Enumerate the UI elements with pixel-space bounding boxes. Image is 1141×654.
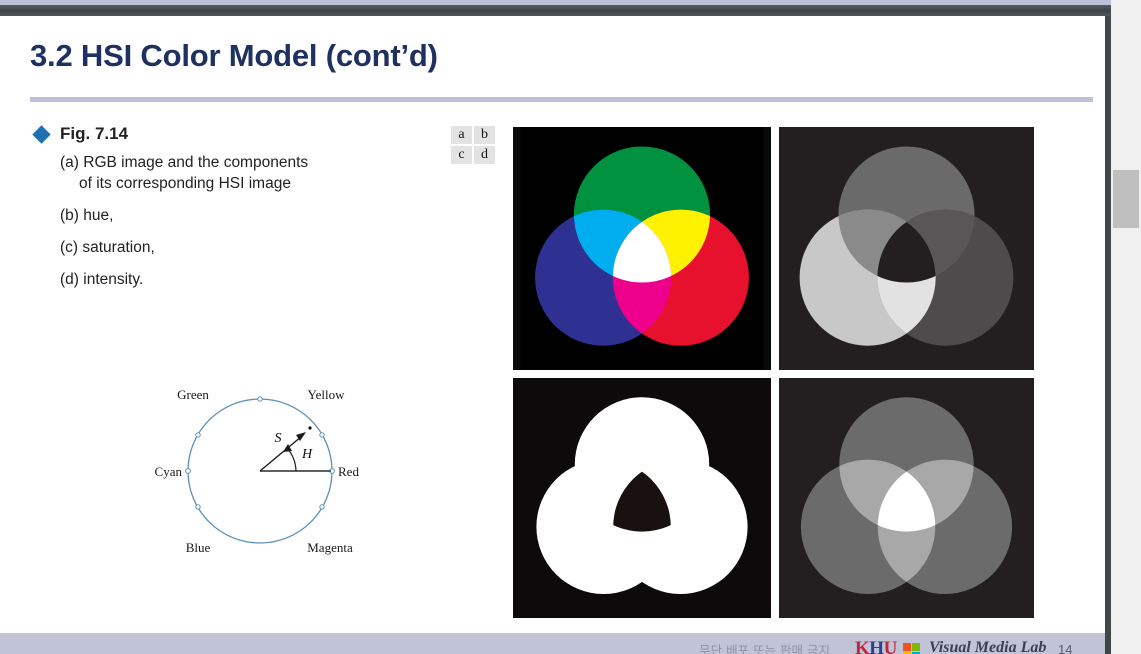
- sub-bullet-a: (a) RGB image and the components: [60, 153, 435, 174]
- panel-key-a: a: [451, 126, 472, 144]
- hsi-color-wheel-figure: S H Green Yellow Cyan Red Blue Magenta: [130, 376, 390, 566]
- slide-canvas: 3.2 HSI Color Model (cont’d) Fig. 7.14 (…: [0, 16, 1105, 654]
- vertex-yellow: [320, 433, 324, 437]
- panel-key-c: c: [451, 146, 472, 164]
- page-number: 14: [1058, 642, 1072, 654]
- vertical-scrollbar[interactable]: [1111, 0, 1141, 654]
- vertex-blue: [196, 505, 200, 509]
- diamond-bullet-icon: [32, 125, 50, 143]
- sub-bullet-b: (b) hue,: [60, 206, 435, 227]
- vertex-green: [196, 433, 200, 437]
- panel-rgb-image: [513, 127, 771, 370]
- vertex-magenta: [320, 505, 324, 509]
- copyright-notice: 무단 배포 또는 판매 금지: [0, 640, 830, 654]
- sub-bullets: (a) RGB image and the components of its …: [60, 153, 435, 291]
- panel-intensity-image: [779, 378, 1034, 618]
- label-yellow: Yellow: [308, 387, 346, 402]
- sub-bullet-c: (c) saturation,: [60, 238, 435, 259]
- bullet-lead: Fig. 7.14: [35, 124, 435, 144]
- bullet-lead-label: Fig. 7.14: [60, 124, 128, 144]
- khu-logo-u: U: [884, 638, 897, 654]
- panel-key-d: d: [474, 146, 495, 164]
- khu-logo-h: H: [869, 638, 883, 654]
- label-cyan: Cyan: [155, 464, 183, 479]
- bullet-list: Fig. 7.14 (a) RGB image and the componen…: [35, 124, 435, 291]
- label-magenta: Magenta: [307, 540, 353, 555]
- saturation-label: S: [275, 431, 282, 446]
- vertex-cyan: [186, 469, 191, 474]
- lab-name: Visual Media Lab: [929, 639, 1046, 654]
- panel-key-b: b: [474, 126, 495, 144]
- khu-logo: KHU: [855, 638, 897, 654]
- khu-logo-k: K: [855, 638, 869, 654]
- panel-saturation-image: [513, 378, 771, 618]
- panel-key-grid: a b c d: [451, 126, 495, 164]
- lab-square-logo-icon: [903, 643, 920, 654]
- sub-bullet-d: (d) intensity.: [60, 270, 435, 291]
- panel-hue-image: [779, 127, 1034, 370]
- vertical-scrollbar-thumb[interactable]: [1113, 170, 1139, 228]
- sub-bullet-a-cont: of its corresponding HSI image: [60, 174, 435, 195]
- slide-viewer: 3.2 HSI Color Model (cont’d) Fig. 7.14 (…: [0, 0, 1141, 654]
- top-toolbar: [0, 5, 1122, 16]
- sample-point: [308, 426, 311, 429]
- label-green: Green: [177, 387, 209, 402]
- hue-label: H: [301, 447, 313, 462]
- page-title: 3.2 HSI Color Model (cont’d): [30, 38, 438, 74]
- label-blue: Blue: [186, 540, 211, 555]
- label-red: Red: [338, 464, 359, 479]
- title-divider: [30, 97, 1093, 102]
